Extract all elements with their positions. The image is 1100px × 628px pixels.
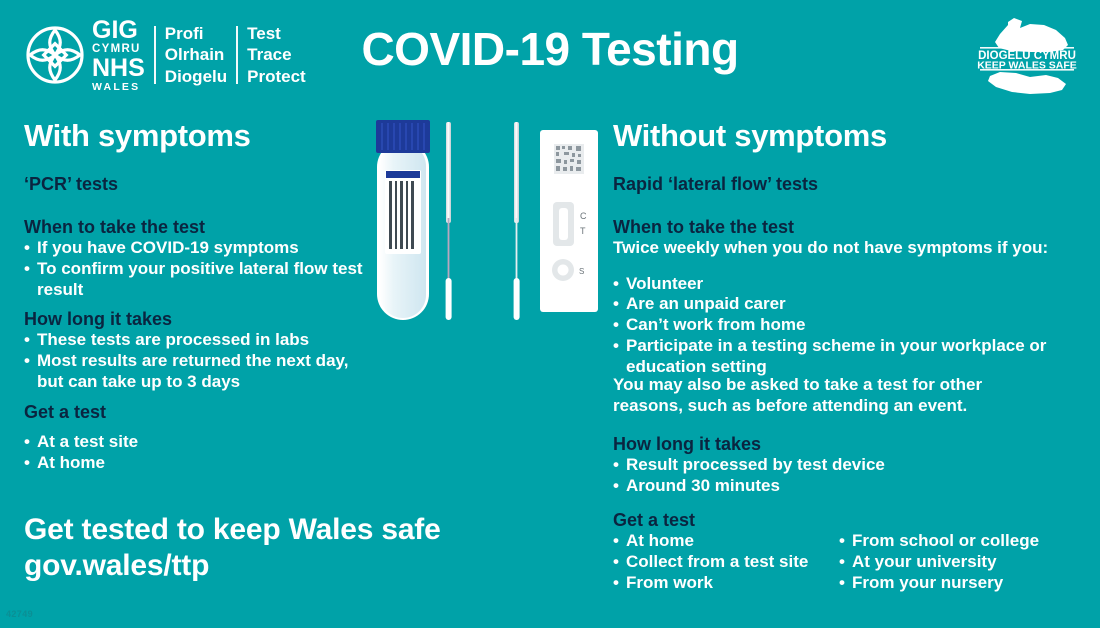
right-when-list: Volunteer Are an unpaid carer Can’t work… xyxy=(613,274,1083,378)
lfd-control-label: C xyxy=(580,211,587,221)
left-howlong-heading: How long it takes xyxy=(24,309,374,330)
reference-number: 42749 xyxy=(6,609,33,619)
list-item: Around 30 minutes xyxy=(613,476,1083,497)
list-item: From work xyxy=(613,573,839,594)
list-item: Participate in a testing scheme in your … xyxy=(613,336,1083,377)
list-item: From school or college xyxy=(839,531,1079,552)
page-title: COVID-19 Testing xyxy=(0,22,1100,76)
list-item: At a test site xyxy=(24,432,364,453)
right-when-heading: When to take the test xyxy=(613,217,1083,238)
left-howlong-block: How long it takes These tests are proces… xyxy=(24,309,374,392)
lfd-test-label: T xyxy=(580,226,586,236)
right-get-list-2: From school or college At your universit… xyxy=(839,531,1079,593)
infographic-page: GIG CYMRU NHS WALES Profi Olrhain Diogel… xyxy=(0,0,1100,628)
wales-text: WALES xyxy=(92,82,145,93)
right-when-block: When to take the test Twice weekly when … xyxy=(613,217,1083,377)
list-item: At home xyxy=(24,453,364,474)
right-howlong-heading: How long it takes xyxy=(613,434,1083,455)
swab-stick-1 xyxy=(446,122,452,320)
lfd-qr-code-icon xyxy=(554,144,584,174)
badge-line-2: KEEP WALES SAFE xyxy=(977,60,1077,72)
left-when-heading: When to take the test xyxy=(24,217,364,238)
list-item: Are an unpaid carer xyxy=(613,294,1083,315)
list-item: At your university xyxy=(839,552,1079,573)
right-subtitle: Rapid ‘lateral flow’ tests xyxy=(613,175,818,193)
list-item: From your nursery xyxy=(839,573,1079,594)
right-get-heading: Get a test xyxy=(613,510,1083,531)
swab-stick-2 xyxy=(514,122,520,320)
list-item: Volunteer xyxy=(613,274,1083,295)
right-howlong-block: How long it takes Result processed by te… xyxy=(613,434,1083,497)
left-get-heading: Get a test xyxy=(24,402,364,423)
list-item: Result processed by test device xyxy=(613,455,1083,476)
list-item: If you have COVID-19 symptoms xyxy=(24,238,364,259)
right-when-intro: Twice weekly when you do not have sympto… xyxy=(613,238,1083,258)
list-item: Most results are returned the next day, … xyxy=(24,351,374,392)
right-get-block: Get a test At home Collect from a test s… xyxy=(613,510,1083,593)
list-item: These tests are processed in labs xyxy=(24,330,374,351)
lateral-flow-device-illustration: C T S xyxy=(540,130,598,312)
right-section-title: Without symptoms xyxy=(613,120,1083,151)
keep-wales-safe-badge: DIOGELU CYMRU KEEP WALES SAFE xyxy=(972,16,1082,94)
left-get-block: Get a test At a test site At home xyxy=(24,402,364,474)
pcr-test-tube-illustration xyxy=(376,120,430,320)
left-howlong-list: These tests are processed in labs Most r… xyxy=(24,330,374,392)
left-when-block: When to take the test If you have COVID-… xyxy=(24,217,364,300)
left-when-list: If you have COVID-19 symptoms To confirm… xyxy=(24,238,364,300)
list-item: Collect from a test site xyxy=(613,552,839,573)
lfd-sample-label: S xyxy=(579,267,584,276)
list-item: Can’t work from home xyxy=(613,315,1083,336)
right-get-columns: At home Collect from a test site From wo… xyxy=(613,531,1083,593)
left-subtitle: ‘PCR’ tests xyxy=(24,175,118,193)
left-section-title: With symptoms xyxy=(24,120,251,151)
test-illustrations: C T S xyxy=(368,118,608,323)
call-to-action: Get tested to keep Wales safe gov.wales/… xyxy=(24,512,441,584)
list-item: To confirm your positive lateral flow te… xyxy=(24,259,364,300)
right-note: You may also be asked to take a test for… xyxy=(613,375,1033,416)
left-get-list: At a test site At home xyxy=(24,432,364,473)
right-get-list-1: At home Collect from a test site From wo… xyxy=(613,531,839,593)
right-howlong-list: Result processed by test device Around 3… xyxy=(613,455,1083,496)
list-item: At home xyxy=(613,531,839,552)
